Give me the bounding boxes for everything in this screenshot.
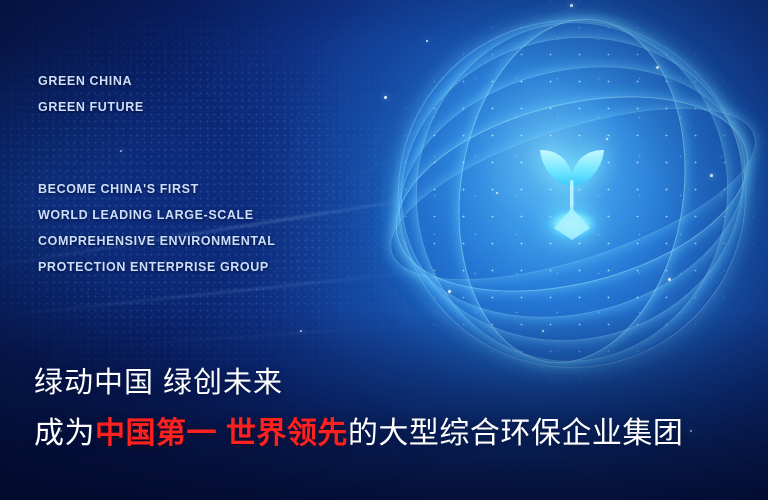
english-slogan-block: GREEN CHINA GREEN FUTURE BECOME CHINA'S … (38, 68, 276, 280)
chinese-headline-line-2: 成为中国第一 世界领先的大型综合环保企业集团 (34, 408, 683, 452)
english-slogan-group-2: BECOME CHINA'S FIRST WORLD LEADING LARGE… (38, 176, 276, 280)
chinese-headline-highlight: 中国第一 世界领先 (95, 417, 348, 450)
english-slogan-line-6: PROTECTION ENTERPRISE GROUP (38, 254, 276, 280)
english-slogan-line-1: GREEN CHINA (38, 68, 276, 94)
chinese-headline-block: 绿动中国 绿创未来 成为中国第一 世界领先的大型综合环保企业集团 (34, 359, 683, 452)
english-slogan-line-4: WORLD LEADING LARGE-SCALE (38, 202, 276, 228)
banner-image: GREEN CHINA GREEN FUTURE BECOME CHINA'S … (0, 0, 768, 500)
chinese-headline-prefix: 成为 (34, 417, 95, 450)
particle (690, 430, 692, 432)
english-slogan-line-3: BECOME CHINA'S FIRST (38, 176, 276, 202)
english-slogan-line-5: COMPREHENSIVE ENVIRONMENTAL (38, 228, 276, 254)
english-slogan-line-2: GREEN FUTURE (38, 94, 276, 120)
chinese-headline-suffix: 的大型综合环保企业集团 (348, 417, 684, 450)
chinese-headline-line-1: 绿动中国 绿创未来 (34, 359, 683, 401)
